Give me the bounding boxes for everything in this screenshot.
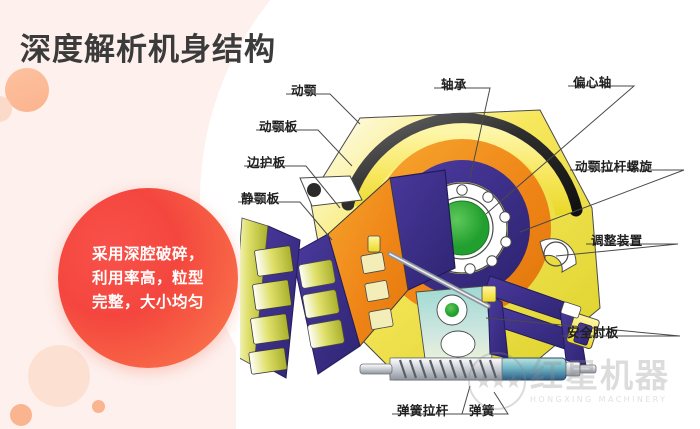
label-text: 弹簧 xyxy=(468,400,496,420)
callout-line-2: 利用率高，粒型 xyxy=(72,266,224,290)
label-text: 静颚板 xyxy=(240,188,281,208)
label-text: 边护板 xyxy=(246,152,287,172)
label-text: 安全肘板 xyxy=(566,322,620,342)
feature-callout-circle: 采用深腔破碎， 利用率高，粒型 完整，大小均匀 xyxy=(58,188,238,368)
label-spring: 弹簧 xyxy=(468,400,496,420)
feature-callout-text: 采用深腔破碎， 利用率高，粒型 完整，大小均匀 xyxy=(72,242,224,314)
label-text: 动颚拉杆螺旋 xyxy=(574,156,653,176)
label-moving-jaw-plate: 动颚板 xyxy=(258,116,299,136)
label-text: 动颚板 xyxy=(258,116,299,136)
decorative-circle-small-1 xyxy=(10,404,32,426)
pivot-bracket xyxy=(300,176,362,206)
label-adjusting-device: 调整装置 xyxy=(590,230,644,250)
label-text: 弹簧拉杆 xyxy=(396,400,450,420)
label-text: 调整装置 xyxy=(590,230,644,250)
label-safety-toggle-plate: 安全肘板 xyxy=(566,322,620,342)
callout-line-3: 完整，大小均匀 xyxy=(72,290,224,314)
decorative-circle-small-2 xyxy=(92,400,105,413)
page-title: 深度解析机身结构 xyxy=(20,24,276,69)
label-moving-jaw: 动颚 xyxy=(290,80,318,100)
inspection-port-lower xyxy=(441,331,475,357)
label-text: 动颚 xyxy=(290,80,318,100)
poster-canvas: 深度解析机身结构 采用深腔破碎， 利用率高，粒型 完整，大小均匀 xyxy=(0,0,700,429)
label-spring-rod: 弹簧拉杆 xyxy=(396,400,450,420)
label-bearing: 轴承 xyxy=(440,74,468,94)
label-eccentric-shaft: 偏心轴 xyxy=(572,72,613,92)
label-static-jaw-plate: 静颚板 xyxy=(240,188,281,208)
spring-rod-assembly xyxy=(360,358,596,380)
decorative-circle-mid xyxy=(28,345,90,407)
static-jaw-plate-assembly xyxy=(240,218,300,378)
label-side-guard-plate: 边护板 xyxy=(246,152,287,172)
label-text: 轴承 xyxy=(440,74,468,94)
label-jaw-rod-screw: 动颚拉杆螺旋 xyxy=(574,156,653,176)
port-plug xyxy=(445,303,459,317)
callout-line-1: 采用深腔破碎， xyxy=(72,242,224,266)
label-text: 偏心轴 xyxy=(572,72,613,92)
